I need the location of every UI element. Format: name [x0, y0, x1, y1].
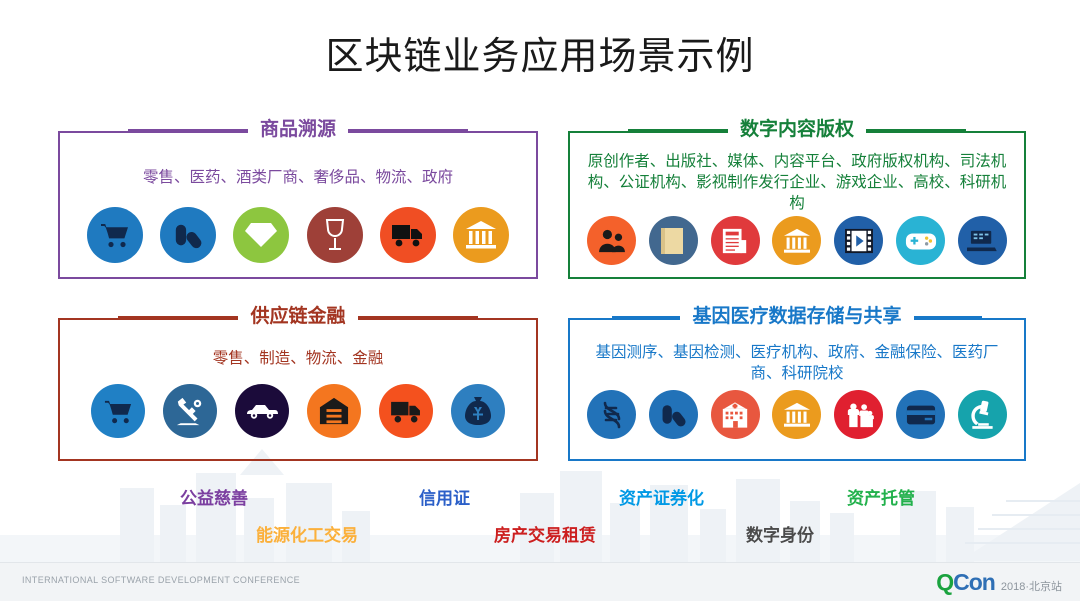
bank-icon[interactable] — [772, 216, 821, 265]
keyword-digital-identity: 数字身份 — [746, 521, 814, 546]
book-icon[interactable] — [649, 216, 698, 265]
panel-icon-row — [570, 390, 1024, 439]
diamond-icon[interactable] — [233, 207, 289, 263]
panel-genomic-medical-data: 基因医疗数据存储与共享 基因测序、基因检测、医疗机构、政府、金融保险、医药厂商、… — [568, 318, 1026, 461]
page-title: 区块链业务应用场景示例 — [0, 34, 1080, 80]
gamepad-icon[interactable] — [896, 216, 945, 265]
robot-arm-icon[interactable] — [163, 384, 217, 438]
panel-icon-row — [60, 207, 536, 263]
pills-icon[interactable] — [649, 390, 698, 439]
film-video-icon[interactable] — [834, 216, 883, 265]
panel-icon-row — [60, 384, 536, 438]
bank-icon[interactable] — [453, 207, 509, 263]
microscope-icon[interactable] — [958, 390, 1007, 439]
dna-icon[interactable] — [587, 390, 636, 439]
panel-title: 数字内容版权 — [728, 119, 866, 141]
footer-bar: INTERNATIONAL SOFTWARE DEVELOPMENT CONFE… — [0, 562, 1080, 601]
keyword-real-estate-trading-leasing: 房产交易租赁 — [494, 521, 596, 546]
qcon-logo: Q Con 2018·北京站 — [936, 570, 1062, 594]
panel-subtitle: 基因测序、基因检测、医疗机构、政府、金融保险、医药厂商、科研院校 — [582, 342, 1012, 384]
credit-card-icon[interactable] — [896, 390, 945, 439]
panel-title: 商品溯源 — [248, 119, 348, 141]
panel-title: 供应链金融 — [238, 306, 357, 328]
bank-icon[interactable] — [772, 390, 821, 439]
panel-subtitle: 原创作者、出版社、媒体、内容平台、政府版权机构、司法机构、公证机构、影视制作发行… — [582, 151, 1012, 214]
qcon-year-city: 2018·北京站 — [1001, 578, 1062, 594]
panel-commodity-traceability: 商品溯源 零售、医药、酒类厂商、奢侈品、物流、政府 — [58, 131, 538, 279]
people-icon[interactable] — [587, 216, 636, 265]
panel-legend: 基因医疗数据存储与共享 — [570, 306, 1024, 328]
panel-legend: 数字内容版权 — [570, 119, 1024, 141]
family-icon[interactable] — [834, 390, 883, 439]
footer-conference-text: INTERNATIONAL SOFTWARE DEVELOPMENT CONFE… — [22, 575, 300, 585]
warehouse-icon[interactable] — [307, 384, 361, 438]
pills-icon[interactable] — [160, 207, 216, 263]
keyword-energy-chemical-trading: 能源化工交易 — [256, 521, 358, 546]
shopping-cart-icon[interactable] — [91, 384, 145, 438]
panel-icon-row — [570, 216, 1024, 265]
keyword-asset-securitization: 资产证券化 — [619, 484, 704, 509]
panel-digital-content-copyright: 数字内容版权 原创作者、出版社、媒体、内容平台、政府版权机构、司法机构、公证机构… — [568, 131, 1026, 279]
keyword-asset-custody: 资产托管 — [847, 484, 915, 509]
panel-subtitle: 零售、制造、物流、金融 — [72, 348, 524, 369]
qcon-logo-q: Q — [936, 570, 953, 594]
shopping-cart-icon[interactable] — [87, 207, 143, 263]
panel-title: 基因医疗数据存储与共享 — [680, 306, 913, 328]
laptop-icon[interactable] — [958, 216, 1007, 265]
truck-icon[interactable] — [379, 384, 433, 438]
hospital-icon[interactable] — [711, 390, 760, 439]
slide-root: 区块链业务应用场景示例 商品溯源 零售、医药、酒类厂商、奢侈品、物流、政府 — [0, 0, 1080, 601]
newspaper-icon[interactable] — [711, 216, 760, 265]
wine-glass-icon[interactable] — [307, 207, 363, 263]
car-icon[interactable] — [235, 384, 289, 438]
qcon-logo-con: Con — [953, 570, 995, 594]
panel-supply-chain-finance: 供应链金融 零售、制造、物流、金融 — [58, 318, 538, 461]
panel-subtitle: 零售、医药、酒类厂商、奢侈品、物流、政府 — [72, 167, 524, 188]
money-bag-icon[interactable] — [451, 384, 505, 438]
keyword-letter-of-credit: 信用证 — [419, 484, 470, 509]
truck-icon[interactable] — [380, 207, 436, 263]
panel-legend: 供应链金融 — [60, 306, 536, 328]
keyword-public-welfare-charity: 公益慈善 — [180, 484, 248, 509]
panel-legend: 商品溯源 — [60, 119, 536, 141]
